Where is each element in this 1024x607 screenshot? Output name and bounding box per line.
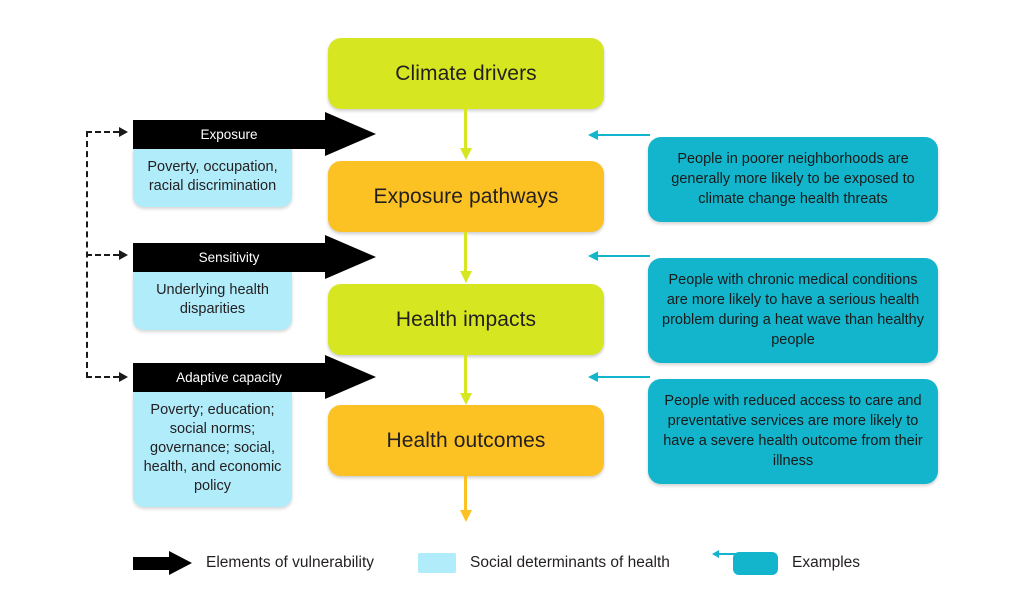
- connector-arrowhead: [460, 510, 472, 522]
- connector-arrowhead: [460, 393, 472, 405]
- connector-shaft: [464, 109, 467, 148]
- dashed-connector-exposure: [86, 131, 119, 133]
- connector-shaft: [464, 232, 467, 271]
- vulnerability-label-exposure: Exposure: [133, 120, 325, 149]
- stage-box-health-impacts: Health impacts: [328, 284, 604, 355]
- legend-label-sdoh: Social determinants of health: [470, 554, 670, 572]
- sdoh-box-adaptive-capacity: Poverty; education; social norms; govern…: [133, 392, 292, 507]
- connector-shaft: [596, 255, 650, 257]
- teal-swatch: [733, 552, 778, 575]
- legend-label-vulnerability: Elements of vulnerability: [206, 554, 374, 572]
- connector-arrowhead: [460, 271, 472, 283]
- connector-shaft: [596, 376, 650, 378]
- arrow-bar: [133, 557, 169, 570]
- connector-arrow-climate-to-exposure: [460, 109, 472, 160]
- connector-shaft: [464, 355, 467, 393]
- example-connector-arrow-3: [588, 372, 650, 382]
- arrow-head: [325, 355, 376, 399]
- legend-label-examples: Examples: [792, 554, 860, 572]
- example-connector-arrow-1: [588, 130, 650, 140]
- dashed-arrowhead-exposure: [119, 127, 128, 137]
- sdoh-box-exposure: Poverty, occupation, racial discriminati…: [133, 149, 292, 207]
- legend-item-examples: Examples: [712, 540, 860, 586]
- vulnerability-label-sensitivity: Sensitivity: [133, 243, 325, 272]
- connector-arrow-exposure-to-impacts: [460, 232, 472, 283]
- arrow-head: [325, 235, 376, 279]
- arrow-head: [325, 112, 376, 156]
- dashed-arrowhead-sensitivity: [119, 250, 128, 260]
- light-blue-swatch-icon: [418, 553, 456, 573]
- stage-label-health-impacts: Health impacts: [396, 308, 536, 332]
- vulnerability-arrow-adaptive-capacity: Adaptive capacity: [133, 363, 376, 392]
- dashed-arrowhead-adaptive: [119, 372, 128, 382]
- stage-box-health-outcomes: Health outcomes: [328, 405, 604, 476]
- example-callout-sensitivity: People with chronic medical conditions a…: [648, 258, 938, 363]
- connector-shaft: [596, 134, 650, 136]
- example-callout-adaptive-capacity: People with reduced access to care and p…: [648, 379, 938, 484]
- dashed-connector-adaptive: [86, 376, 119, 378]
- vulnerability-label-adaptive-capacity: Adaptive capacity: [133, 363, 325, 392]
- vulnerability-arrow-sensitivity: Sensitivity: [133, 243, 376, 272]
- sdoh-box-sensitivity: Underlying health disparities: [133, 272, 292, 330]
- example-callout-exposure: People in poorer neighborhoods are gener…: [648, 137, 938, 222]
- stage-box-exposure-pathways: Exposure pathways: [328, 161, 604, 232]
- teal-callout-icon: [712, 548, 778, 578]
- legend-item-sdoh: Social determinants of health: [418, 540, 670, 586]
- connector-arrow-outcomes-terminal: [460, 476, 472, 524]
- stage-label-health-outcomes: Health outcomes: [386, 429, 545, 453]
- legend: Elements of vulnerability Social determi…: [0, 540, 1024, 586]
- stage-label-exposure-pathways: Exposure pathways: [374, 185, 559, 209]
- connector-arrow-impacts-to-outcomes: [460, 355, 472, 406]
- legend-item-vulnerability: Elements of vulnerability: [133, 540, 374, 586]
- arrow-head: [169, 551, 192, 575]
- vulnerability-arrow-exposure: Exposure: [133, 120, 376, 149]
- dashed-connector-sensitivity: [86, 254, 119, 256]
- stage-box-climate-drivers: Climate drivers: [328, 38, 604, 109]
- connector-arrowhead: [460, 148, 472, 160]
- diagram-canvas: Exposure Poverty, occupation, racial dis…: [0, 0, 1024, 607]
- example-connector-arrow-2: [588, 251, 650, 261]
- black-arrow-icon: [133, 551, 192, 575]
- stage-label-climate-drivers: Climate drivers: [395, 62, 537, 86]
- connector-shaft: [464, 476, 467, 510]
